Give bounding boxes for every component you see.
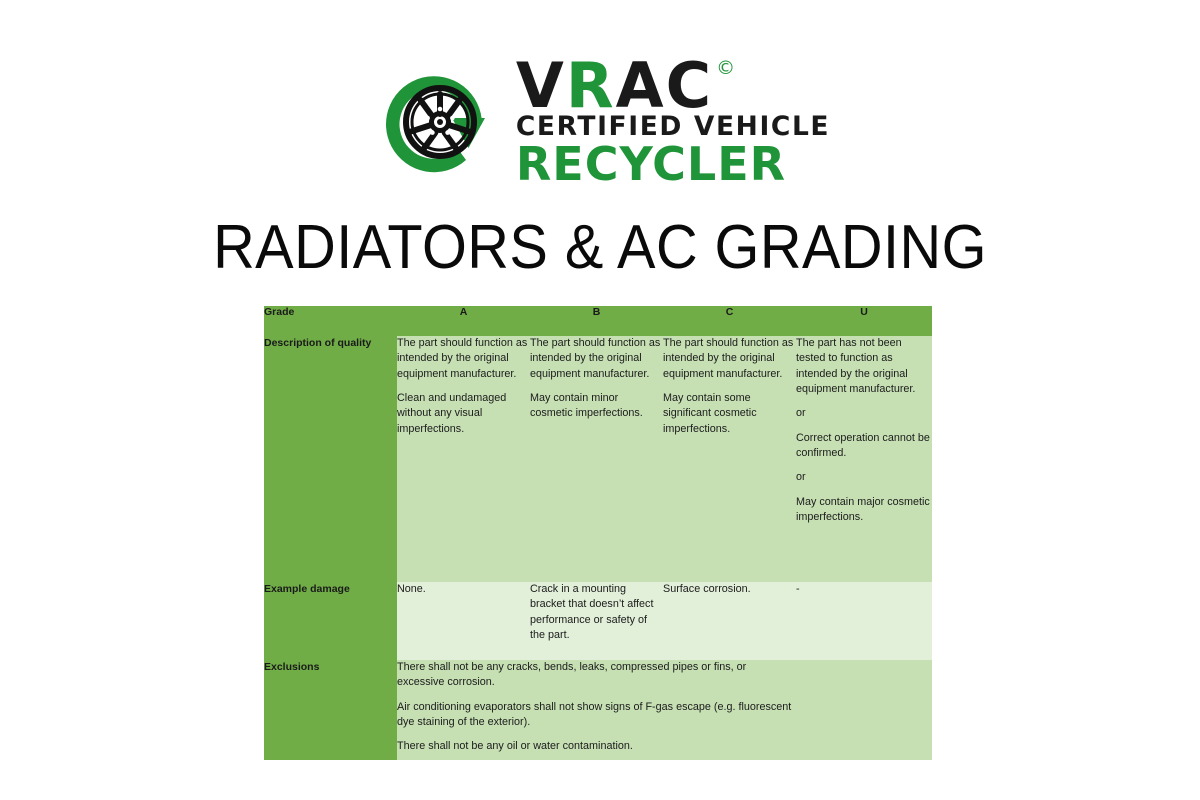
logo-recycler-line: RECYCLER: [516, 141, 786, 187]
logo-letter-r: R: [566, 57, 616, 114]
cell-paragraph: May contain some significant cosmetic im…: [663, 391, 796, 437]
cell-paragraph: Correct operation cannot be confirmed.: [796, 431, 932, 462]
cell-description-c: The part should function as intended by …: [663, 336, 796, 582]
header-grade-a: A: [397, 306, 530, 336]
cell-example-a: None.: [397, 582, 530, 660]
row-label-exclusions: Exclusions: [264, 660, 397, 760]
copyright-icon: ©: [716, 59, 737, 78]
grading-table: Grade A B C U Description of quality The…: [264, 306, 932, 760]
cell-description-a: The part should function as intended by …: [397, 336, 530, 582]
logo-letters-ac: AC: [616, 57, 713, 114]
cell-paragraph: The part has not been tested to function…: [796, 336, 932, 397]
logo-inner: V R AC © CERTIFIED VEHICLE RECYCLER: [370, 52, 830, 192]
cell-paragraph: The part should function as intended by …: [530, 336, 663, 382]
cell-paragraph: Crack in a mounting bracket that doesn’t…: [530, 582, 663, 643]
cell-paragraph: The part should function as intended by …: [397, 336, 530, 382]
cell-paragraph: or: [796, 470, 932, 485]
header-grade-u: U: [796, 306, 932, 336]
cell-paragraph: Air conditioning evaporators shall not s…: [397, 700, 796, 731]
page-title: RADIATORS & AC GRADING: [42, 212, 1158, 283]
logo-wordmark: V R AC © CERTIFIED VEHICLE RECYCLER: [516, 57, 830, 188]
cell-paragraph: Surface corrosion.: [663, 582, 796, 597]
cell-example-b: Crack in a mounting bracket that doesn’t…: [530, 582, 663, 660]
header-grade-label: Grade: [264, 306, 397, 336]
cell-paragraph: May contain major cosmetic imperfections…: [796, 495, 932, 526]
cell-paragraph: or: [796, 406, 932, 421]
cell-paragraph: May contain minor cosmetic imperfections…: [530, 391, 663, 422]
cell-paragraph: The part should function as intended by …: [663, 336, 796, 382]
table-row-example-damage: Example damage None. Crack in a mounting…: [264, 582, 932, 660]
table-row-exclusions: Exclusions There shall not be any cracks…: [264, 660, 932, 760]
cell-paragraph: Clean and undamaged without any visual i…: [397, 391, 530, 437]
table-header-row: Grade A B C U: [264, 306, 932, 336]
row-label-description-of-quality: Description of quality: [264, 336, 397, 582]
header-grade-c: C: [663, 306, 796, 336]
cell-exclusions-abc: There shall not be any cracks, bends, le…: [397, 660, 796, 760]
cell-example-c: Surface corrosion.: [663, 582, 796, 660]
header-grade-b: B: [530, 306, 663, 336]
logo-letter-v: V: [516, 57, 566, 114]
recycling-wheel-icon: [370, 52, 510, 192]
cell-paragraph: There shall not be any oil or water cont…: [397, 739, 796, 754]
cell-exclusions-u: [796, 660, 932, 760]
cell-description-b: The part should function as intended by …: [530, 336, 663, 582]
cell-paragraph: -: [796, 582, 932, 597]
table-row-description-of-quality: Description of quality The part should f…: [264, 336, 932, 582]
row-label-example-damage: Example damage: [264, 582, 397, 660]
cell-paragraph: None.: [397, 582, 530, 597]
vrac-logo: V R AC © CERTIFIED VEHICLE RECYCLER: [0, 52, 1200, 202]
cell-paragraph: There shall not be any cracks, bends, le…: [397, 660, 796, 691]
logo-vrac-line: V R AC ©: [516, 57, 734, 114]
cell-description-u: The part has not been tested to function…: [796, 336, 932, 582]
cell-example-u: -: [796, 582, 932, 660]
